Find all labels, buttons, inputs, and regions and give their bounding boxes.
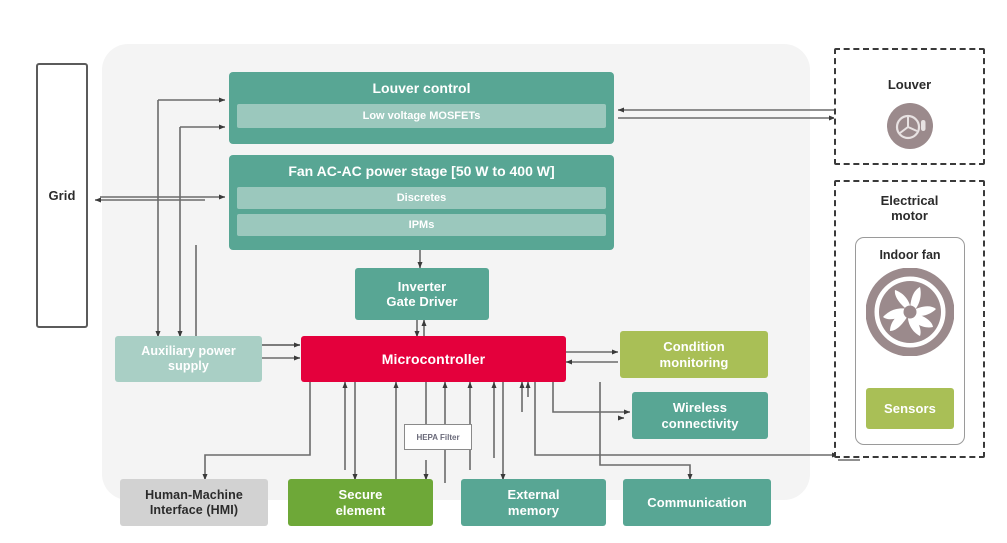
fan-power-stage-sub-discretes: Discretes bbox=[237, 187, 606, 209]
louver-panel-title: Louver bbox=[836, 78, 983, 93]
auxiliary-power-supply-line1: Auxiliary power bbox=[115, 344, 262, 359]
inverter-gate-driver-line1: Inverter bbox=[355, 279, 489, 294]
grid-block[interactable]: Grid bbox=[36, 63, 88, 328]
wireless-connectivity-line1: Wireless bbox=[632, 400, 768, 415]
fan-power-stage-sub-ipms: IPMs bbox=[237, 214, 606, 236]
auxiliary-power-supply-line2: supply bbox=[115, 359, 262, 374]
external-memory-line1: External bbox=[461, 487, 606, 502]
secure-element-line1: Secure bbox=[288, 487, 433, 502]
communication-block[interactable]: Communication bbox=[623, 479, 771, 526]
auxiliary-power-supply-block[interactable]: Auxiliary power supply bbox=[115, 336, 262, 382]
diagram-canvas: Grid Louver control Low voltage MOSFETs … bbox=[0, 0, 1007, 543]
hepa-filter-block[interactable]: HEPA Filter bbox=[404, 424, 472, 450]
communication-line1: Communication bbox=[623, 495, 771, 510]
inverter-gate-driver-block[interactable]: Inverter Gate Driver bbox=[355, 268, 489, 320]
secure-element-line2: element bbox=[288, 503, 433, 518]
wireless-connectivity-line2: connectivity bbox=[632, 416, 768, 431]
wireless-connectivity-block[interactable]: Wireless connectivity bbox=[632, 392, 768, 439]
fan-impeller-icon bbox=[866, 268, 954, 356]
louver-motor-icon-glyph bbox=[887, 103, 933, 149]
hmi-block[interactable]: Human-Machine Interface (HMI) bbox=[120, 479, 268, 526]
electrical-motor-line2: motor bbox=[836, 209, 983, 224]
grid-label: Grid bbox=[38, 188, 86, 203]
hmi-line1: Human-Machine bbox=[120, 488, 268, 503]
external-memory-block[interactable]: External memory bbox=[461, 479, 606, 526]
louver-control-title: Louver control bbox=[237, 77, 606, 99]
louver-control-block[interactable]: Louver control Low voltage MOSFETs bbox=[229, 72, 614, 144]
external-memory-line2: memory bbox=[461, 503, 606, 518]
condition-monitoring-line2: monitoring bbox=[620, 355, 768, 370]
condition-monitoring-block[interactable]: Condition monitoring bbox=[620, 331, 768, 378]
hepa-filter-label: HEPA Filter bbox=[416, 433, 459, 442]
microcontroller-label: Microcontroller bbox=[301, 351, 566, 368]
microcontroller-block[interactable]: Microcontroller bbox=[301, 336, 566, 382]
fan-power-stage-title: Fan AC-AC power stage [50 W to 400 W] bbox=[237, 160, 606, 182]
sensors-label: Sensors bbox=[866, 401, 954, 416]
indoor-fan-label: Indoor fan bbox=[856, 248, 964, 262]
fan-power-stage-block[interactable]: Fan AC-AC power stage [50 W to 400 W] Di… bbox=[229, 155, 614, 250]
louver-control-sub-mosfets: Low voltage MOSFETs bbox=[237, 104, 606, 128]
hmi-line2: Interface (HMI) bbox=[120, 503, 268, 518]
electrical-motor-line1: Electrical bbox=[836, 194, 983, 209]
condition-monitoring-line1: Condition bbox=[620, 339, 768, 354]
inverter-gate-driver-line2: Gate Driver bbox=[355, 294, 489, 309]
secure-element-block[interactable]: Secure element bbox=[288, 479, 433, 526]
sensors-block[interactable]: Sensors bbox=[866, 388, 954, 429]
